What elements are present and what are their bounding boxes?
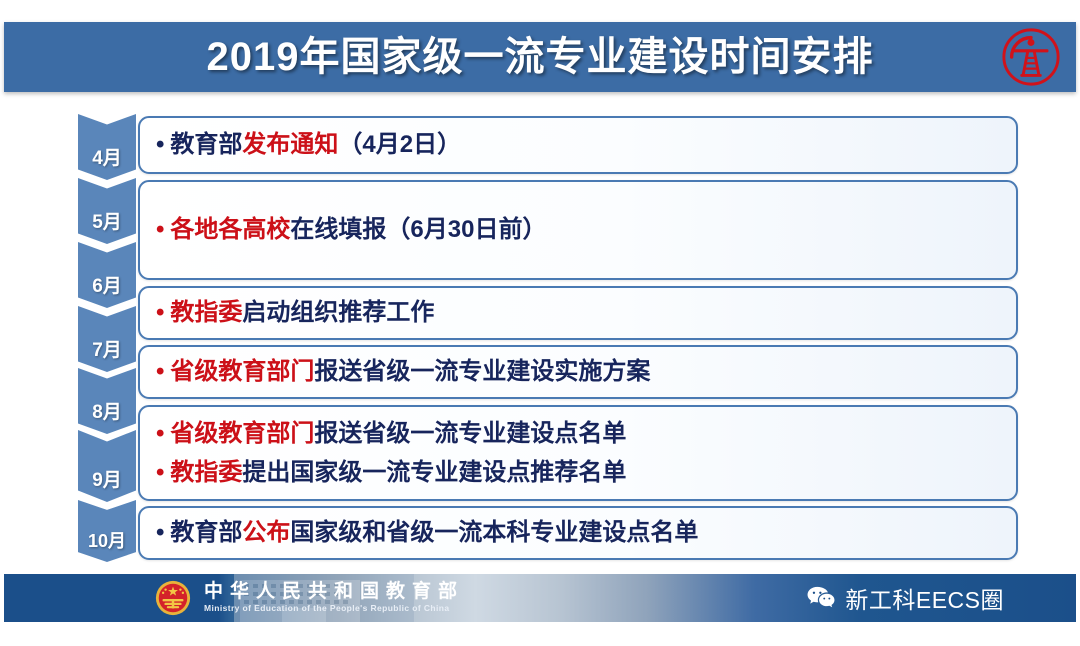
- bullet-marker: •: [156, 131, 164, 158]
- timeline-row-september[interactable]: •省级教育部门报送省级一流专业建设点名单 •教指委提出国家级一流专业建设点推荐名…: [138, 405, 1018, 501]
- row-segment: 在线填报（6月30日前）: [290, 216, 546, 243]
- footer-banner: 中华人民共和国教育部 Ministry of Education of the …: [4, 574, 1076, 622]
- row-segment: 教育部: [170, 519, 242, 546]
- row-segment: 启动组织推荐工作: [242, 299, 434, 326]
- row-segment: 国家级和省级一流本科专业建设点名单: [290, 519, 698, 546]
- month-chevron-6: 6月: [78, 242, 136, 308]
- row-segment-highlight: 省级教育部门: [170, 420, 314, 447]
- month-label: 6月: [92, 277, 122, 308]
- month-chevron-rail: 4月 5月 6月 7月 8月 9月 10月: [78, 112, 136, 562]
- wechat-account-group[interactable]: 新工科EECS圈: [806, 574, 1004, 622]
- row-text-line: •省级教育部门报送省级一流专业建设点名单: [156, 418, 1004, 449]
- row-text-line: •省级教育部门报送省级一流专业建设实施方案: [156, 356, 1004, 387]
- row-text-line: •各地各高校在线填报（6月30日前）: [156, 214, 1004, 245]
- university-seal-logo: [1000, 26, 1062, 88]
- month-label: 4月: [92, 149, 122, 180]
- month-chevron-4: 4月: [78, 114, 136, 180]
- slide-root: 2019年国家级一流专业建设时间安排 4月 5月 6月: [0, 0, 1080, 646]
- month-chevron-5: 5月: [78, 178, 136, 244]
- timeline-row-october[interactable]: •教育部公布国家级和省级一流本科专业建设点名单: [138, 506, 1018, 560]
- row-segment: 报送省级一流专业建设点名单: [314, 420, 626, 447]
- bullet-marker: •: [156, 358, 164, 385]
- month-label: 8月: [92, 403, 122, 434]
- month-chevron-10: 10月: [78, 500, 136, 562]
- row-text-line: •教育部发布通知（4月2日）: [156, 129, 1004, 160]
- row-segment: （4月2日）: [338, 131, 461, 158]
- row-segment-highlight: 教指委: [170, 459, 242, 486]
- timeline-row-may-june[interactable]: •各地各高校在线填报（6月30日前）: [138, 180, 1018, 280]
- bullet-marker: •: [156, 459, 164, 486]
- month-label: 5月: [92, 213, 122, 244]
- ministry-text-block: 中华人民共和国教育部 Ministry of Education of the …: [204, 582, 464, 613]
- month-chevron-8: 8月: [78, 368, 136, 434]
- row-segment: 提出国家级一流专业建设点推荐名单: [242, 459, 626, 486]
- row-segment-highlight: 教指委: [170, 299, 242, 326]
- bullet-marker: •: [156, 519, 164, 546]
- ministry-name-cn: 中华人民共和国教育部: [204, 582, 464, 603]
- china-national-emblem: [154, 579, 192, 617]
- row-segment-highlight: 各地各高校: [170, 216, 290, 243]
- month-label: 7月: [92, 341, 122, 372]
- header-banner: 2019年国家级一流专业建设时间安排: [4, 22, 1076, 92]
- row-segment-highlight: 省级教育部门: [170, 358, 314, 385]
- timeline-row-august[interactable]: •省级教育部门报送省级一流专业建设实施方案: [138, 345, 1018, 399]
- row-text-line: •教育部公布国家级和省级一流本科专业建设点名单: [156, 517, 1004, 548]
- row-text-line: •教指委提出国家级一流专业建设点推荐名单: [156, 457, 1004, 488]
- page-title: 2019年国家级一流专业建设时间安排: [4, 22, 1076, 92]
- timeline-row-april[interactable]: •教育部发布通知（4月2日）: [138, 116, 1018, 174]
- month-chevron-7: 7月: [78, 306, 136, 372]
- row-segment-highlight: 公布: [242, 519, 290, 546]
- month-label: 10月: [88, 532, 126, 562]
- row-segment-highlight: 发布通知: [242, 131, 338, 158]
- row-segment: 报送省级一流专业建设实施方案: [314, 358, 650, 385]
- month-label: 9月: [92, 471, 122, 502]
- timeline-row-july[interactable]: •教指委启动组织推荐工作: [138, 286, 1018, 340]
- row-text-line: •教指委启动组织推荐工作: [156, 297, 1004, 328]
- timeline: 4月 5月 6月 7月 8月 9月 10月 •教育部发布通知: [0, 112, 1080, 562]
- bullet-marker: •: [156, 299, 164, 326]
- wechat-account-name: 新工科EECS圈: [845, 581, 1004, 615]
- ministry-name-en: Ministry of Education of the People's Re…: [204, 603, 464, 613]
- wechat-icon: [806, 585, 836, 611]
- bullet-marker: •: [156, 216, 164, 243]
- row-segment: 教育部: [170, 131, 242, 158]
- month-chevron-9: 9月: [78, 430, 136, 502]
- ministry-of-education-logo-group: 中华人民共和国教育部 Ministry of Education of the …: [154, 574, 464, 622]
- bullet-marker: •: [156, 420, 164, 447]
